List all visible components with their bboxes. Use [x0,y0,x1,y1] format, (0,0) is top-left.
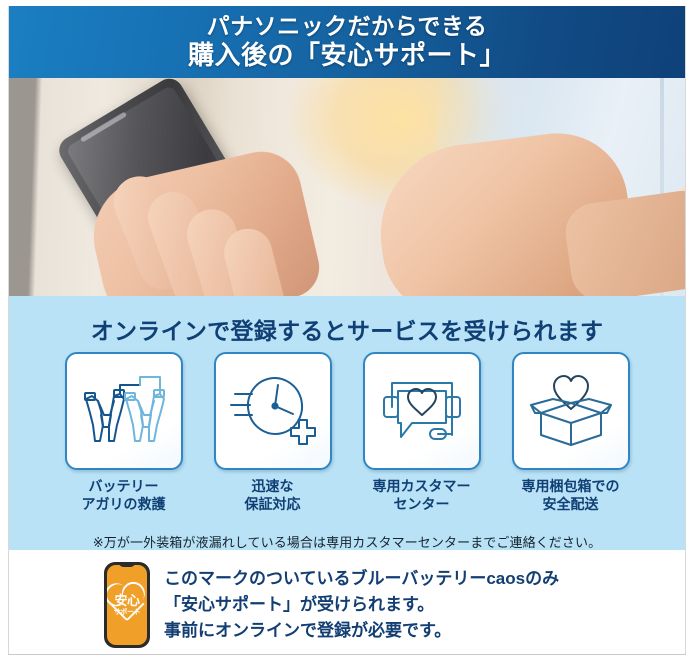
service-card-label-line2: センター [363,495,481,513]
badge-text: 安心 サポート [107,594,147,616]
footer-divider [8,654,686,655]
service-panel: オンラインで登録するとサービスを受けられます [8,296,686,550]
promo-page: パナソニックだからできる 購入後の「安心サポート」 オンラインで登録するとサービ… [0,0,694,671]
service-card: 専用梱包箱での 安全配送 [512,352,630,514]
badge-text-main: 安心 [107,594,147,608]
headset-heart-icon [374,363,470,459]
service-card-icon-box [214,352,332,470]
service-card-label: 専用梱包箱での 安全配送 [512,477,630,514]
frame-border-left [8,6,9,654]
service-card-list: バッテリー アガリの救護 [8,352,686,514]
badge-text-sub: サポート [107,609,147,616]
anshin-support-phone-badge: 安心 サポート [104,562,150,648]
bottom-line-1: このマークのついているブルーバッテリーcaosのみ [164,566,559,592]
open-box-heart-icon [523,363,619,459]
leak-note: ※万が一外装箱が液漏れしている場合は専用カスタマーセンターまでご連絡ください。 [8,532,686,551]
service-card-label-line1: 迅速な [214,477,332,495]
bottom-text-group: このマークのついているブルーバッテリーcaosのみ 「安心サポート」が受けられま… [164,566,559,643]
header-title-line1: パナソニックだからできる [207,13,488,40]
service-card-label-line2: 安全配送 [512,495,630,513]
service-card: 専用カスタマー センター [363,352,481,514]
bottom-info-block: 安心 サポート このマークのついているブルーバッテリーcaosのみ 「安心サポー… [8,556,686,654]
fast-clock-plus-icon [225,363,321,459]
bottom-line-3: 事前にオンラインで登録が必要です。 [164,618,559,644]
service-card: バッテリー アガリの救護 [65,352,183,514]
badge-notch [119,562,136,567]
jumper-cables-icon [76,363,172,459]
service-card-label-line2: アガリの救護 [65,495,183,513]
service-card-icon-box [65,352,183,470]
service-card-label-line1: 専用梱包箱での [512,477,630,495]
frame-border-right [685,6,686,654]
service-card-label-line1: 専用カスタマー [363,477,481,495]
service-card-icon-box [512,352,630,470]
service-card-label-line1: バッテリー [65,477,183,495]
hero-photo [8,78,686,296]
service-card: 迅速な 保証対応 [214,352,332,514]
service-card-label-line2: 保証対応 [214,495,332,513]
badge-screen: 安心 サポート [107,565,147,645]
service-card-label: 迅速な 保証対応 [214,477,332,514]
header-title-line2: 購入後の「安心サポート」 [188,40,506,71]
header-banner: パナソニックだからできる 購入後の「安心サポート」 [8,6,686,78]
service-card-label: バッテリー アガリの救護 [65,477,183,514]
panel-title: オンラインで登録するとサービスを受けられます [8,296,686,346]
service-card-label: 専用カスタマー センター [363,477,481,514]
bottom-line-2: 「安心サポート」が受けられます。 [164,592,559,618]
service-card-icon-box [363,352,481,470]
